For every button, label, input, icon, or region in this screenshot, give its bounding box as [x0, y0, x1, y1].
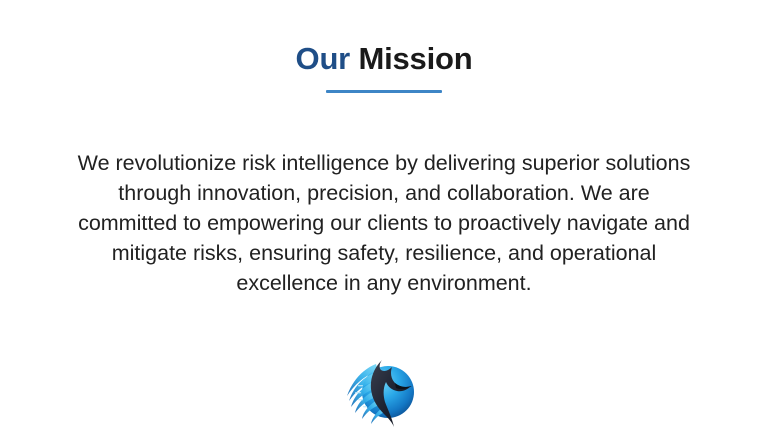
mission-paragraph-line: committed to empowering our clients to p… — [40, 208, 728, 238]
mission-paragraph-line: mitigate risks, ensuring safety, resilie… — [40, 238, 728, 268]
title-block: Our Mission — [0, 40, 768, 93]
mission-paragraph: We revolutionize risk intelligence by de… — [40, 148, 728, 298]
page-title: Our Mission — [0, 40, 768, 78]
brand-logo — [338, 352, 430, 432]
title-underline-rule — [326, 90, 442, 93]
mission-paragraph-line: excellence in any environment. — [40, 268, 728, 298]
mission-paragraph-line: through innovation, precision, and colla… — [40, 178, 728, 208]
page-title-plain-word: Mission — [350, 41, 472, 76]
falcon-bird-logo-icon — [338, 352, 430, 432]
page-title-accent-word: Our — [296, 41, 351, 76]
mission-slide: Our Mission We revolutionize risk intell… — [0, 0, 768, 432]
mission-paragraph-line: We revolutionize risk intelligence by de… — [40, 148, 728, 178]
